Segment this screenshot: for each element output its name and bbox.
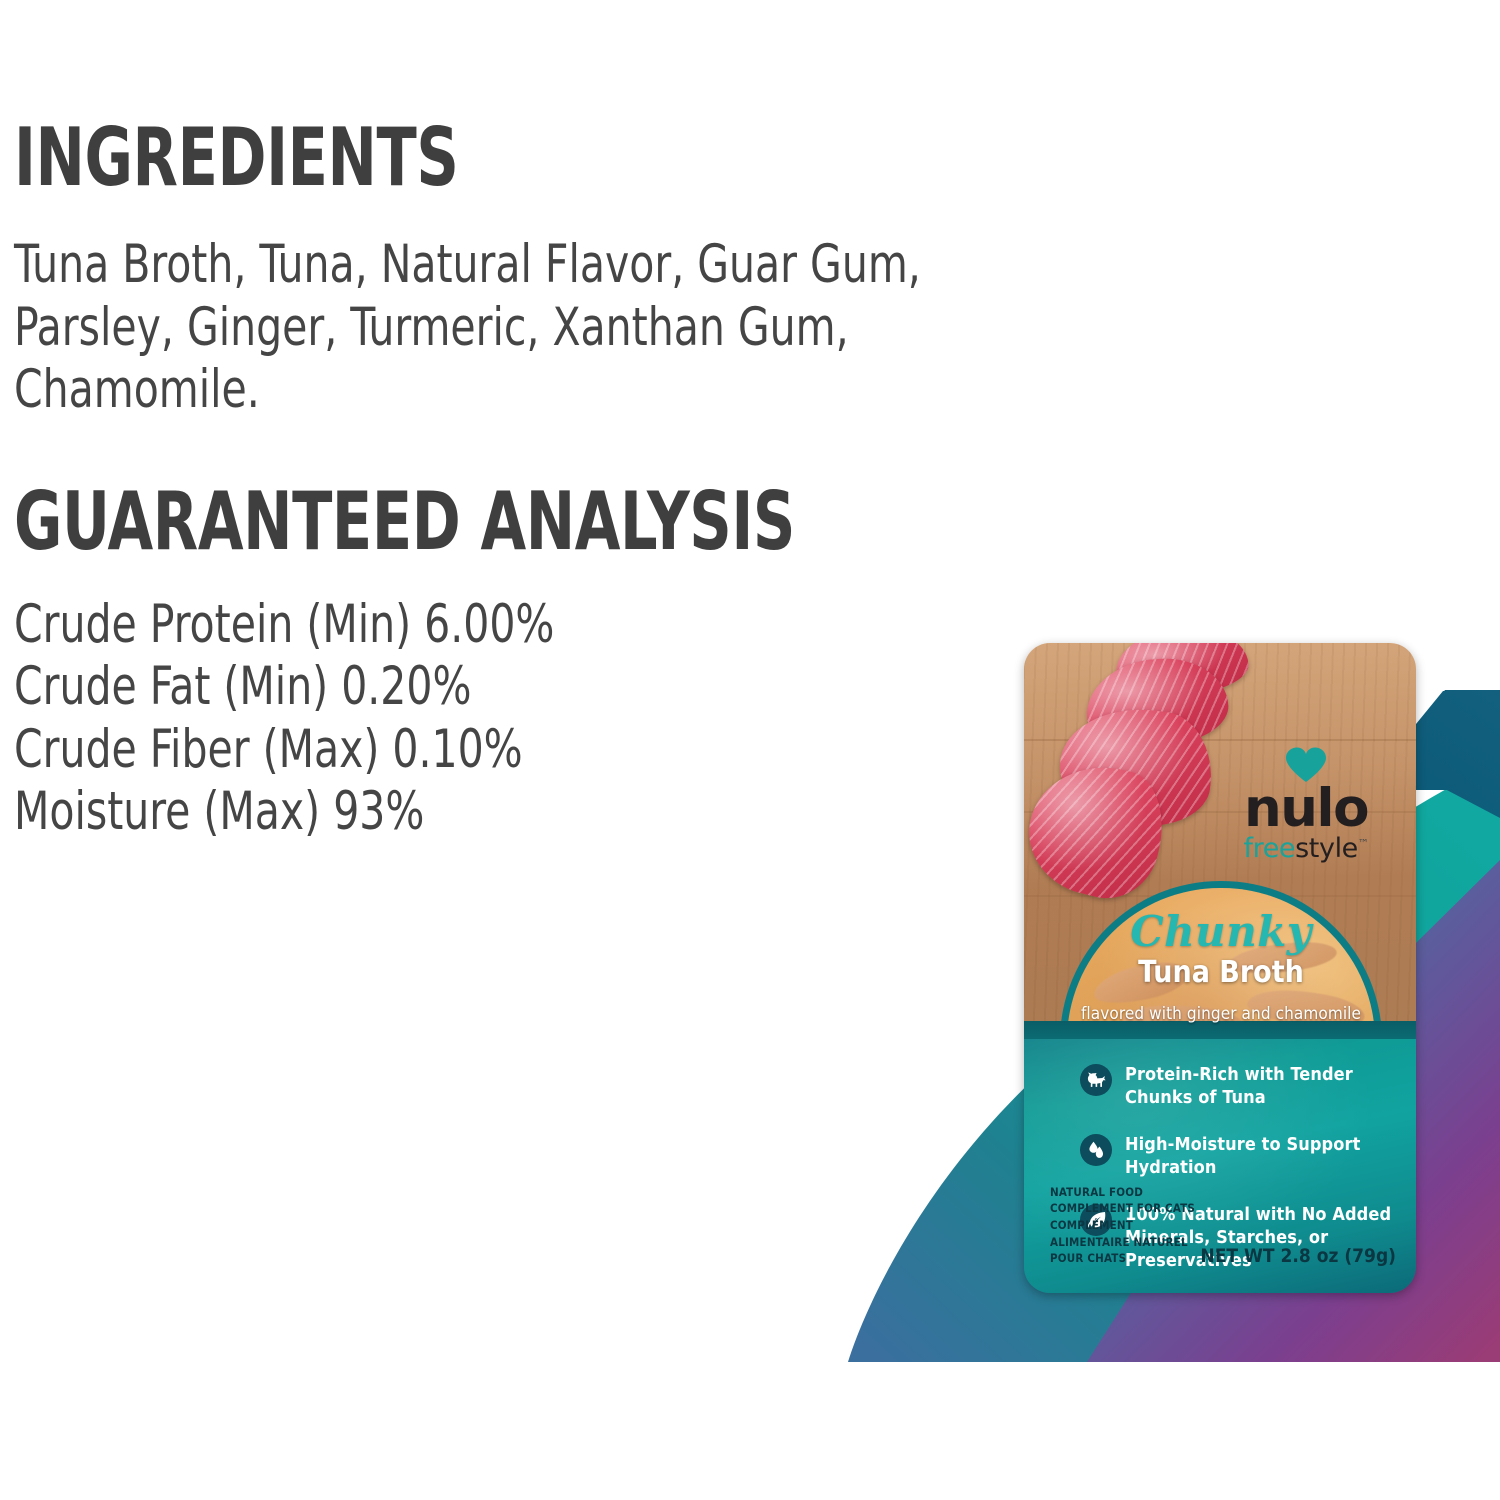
flavor-label-group: Chunky Tuna Broth flavored with ginger a… <box>1060 911 1382 1024</box>
package-footer: NATURAL FOOD COMPLEMENT FOR CATS COMPLÉM… <box>1050 1184 1396 1267</box>
trademark-symbol: ™ <box>1358 837 1369 850</box>
ingredients-heading: INGREDIENTS <box>14 120 752 196</box>
brand-name: nulo <box>1220 785 1392 833</box>
texture-label: Chunky <box>1060 911 1382 953</box>
product-package-image: nulo freestyle™ Chunky Tuna Broth flavor… <box>1024 643 1416 1293</box>
guaranteed-analysis-heading: GUARANTEED ANALYSIS <box>14 484 752 560</box>
benefit-text: High-Moisture to Support Hydration <box>1125 1133 1400 1179</box>
benefit-row: Protein-Rich with Tender Chunks of Tuna <box>1080 1063 1400 1109</box>
sub-brand-style: style <box>1295 833 1358 864</box>
ingredients-list: Tuna Broth, Tuna, Natural Flavor, Guar G… <box>14 234 1094 422</box>
nutrition-info-column: INGREDIENTS Tuna Broth, Tuna, Natural Fl… <box>14 120 914 844</box>
net-weight-label: NET WT 2.8 oz (79g) <box>1200 1245 1396 1267</box>
legal-text-english: NATURAL FOOD COMPLEMENT FOR CATS <box>1050 1184 1200 1217</box>
ingredients-line: Parsley, Ginger, Turmeric, Xanthan Gum, <box>14 297 943 360</box>
analysis-row: Crude Protein (Min) 6.00% <box>14 594 788 657</box>
nulo-freestyle-logo: nulo freestyle™ <box>1220 747 1392 864</box>
analysis-row: Crude Fiber (Max) 0.10% <box>14 719 788 782</box>
ingredients-line: Tuna Broth, Tuna, Natural Flavor, Guar G… <box>14 234 943 297</box>
flavor-name: Tuna Broth <box>1060 955 1382 991</box>
benefit-row: High-Moisture to Support Hydration <box>1080 1133 1400 1179</box>
benefit-text: Protein-Rich with Tender Chunks of Tuna <box>1125 1063 1400 1109</box>
cat-icon <box>1080 1064 1112 1096</box>
guaranteed-analysis-heading-wrap: GUARANTEED ANALYSIS <box>14 484 914 560</box>
analysis-row: Crude Fat (Min) 0.20% <box>14 656 788 719</box>
package-legal-text: NATURAL FOOD COMPLEMENT FOR CATS COMPLÉM… <box>1050 1184 1200 1267</box>
ingredients-line: Chamomile. <box>14 359 943 422</box>
sub-brand-name: freestyle™ <box>1220 833 1392 864</box>
sub-brand-free: free <box>1244 833 1296 864</box>
flavor-subtitle: flavored with ginger and chamomile <box>1060 1004 1382 1024</box>
legal-text-french: COMPLÉMENT ALIMENTAIRE NATUREL POUR CHAT… <box>1050 1217 1200 1267</box>
analysis-row: Moisture (Max) 93% <box>14 781 788 844</box>
water-drop-icon <box>1080 1134 1112 1166</box>
guaranteed-analysis-list: Crude Protein (Min) 6.00% Crude Fat (Min… <box>14 594 914 844</box>
